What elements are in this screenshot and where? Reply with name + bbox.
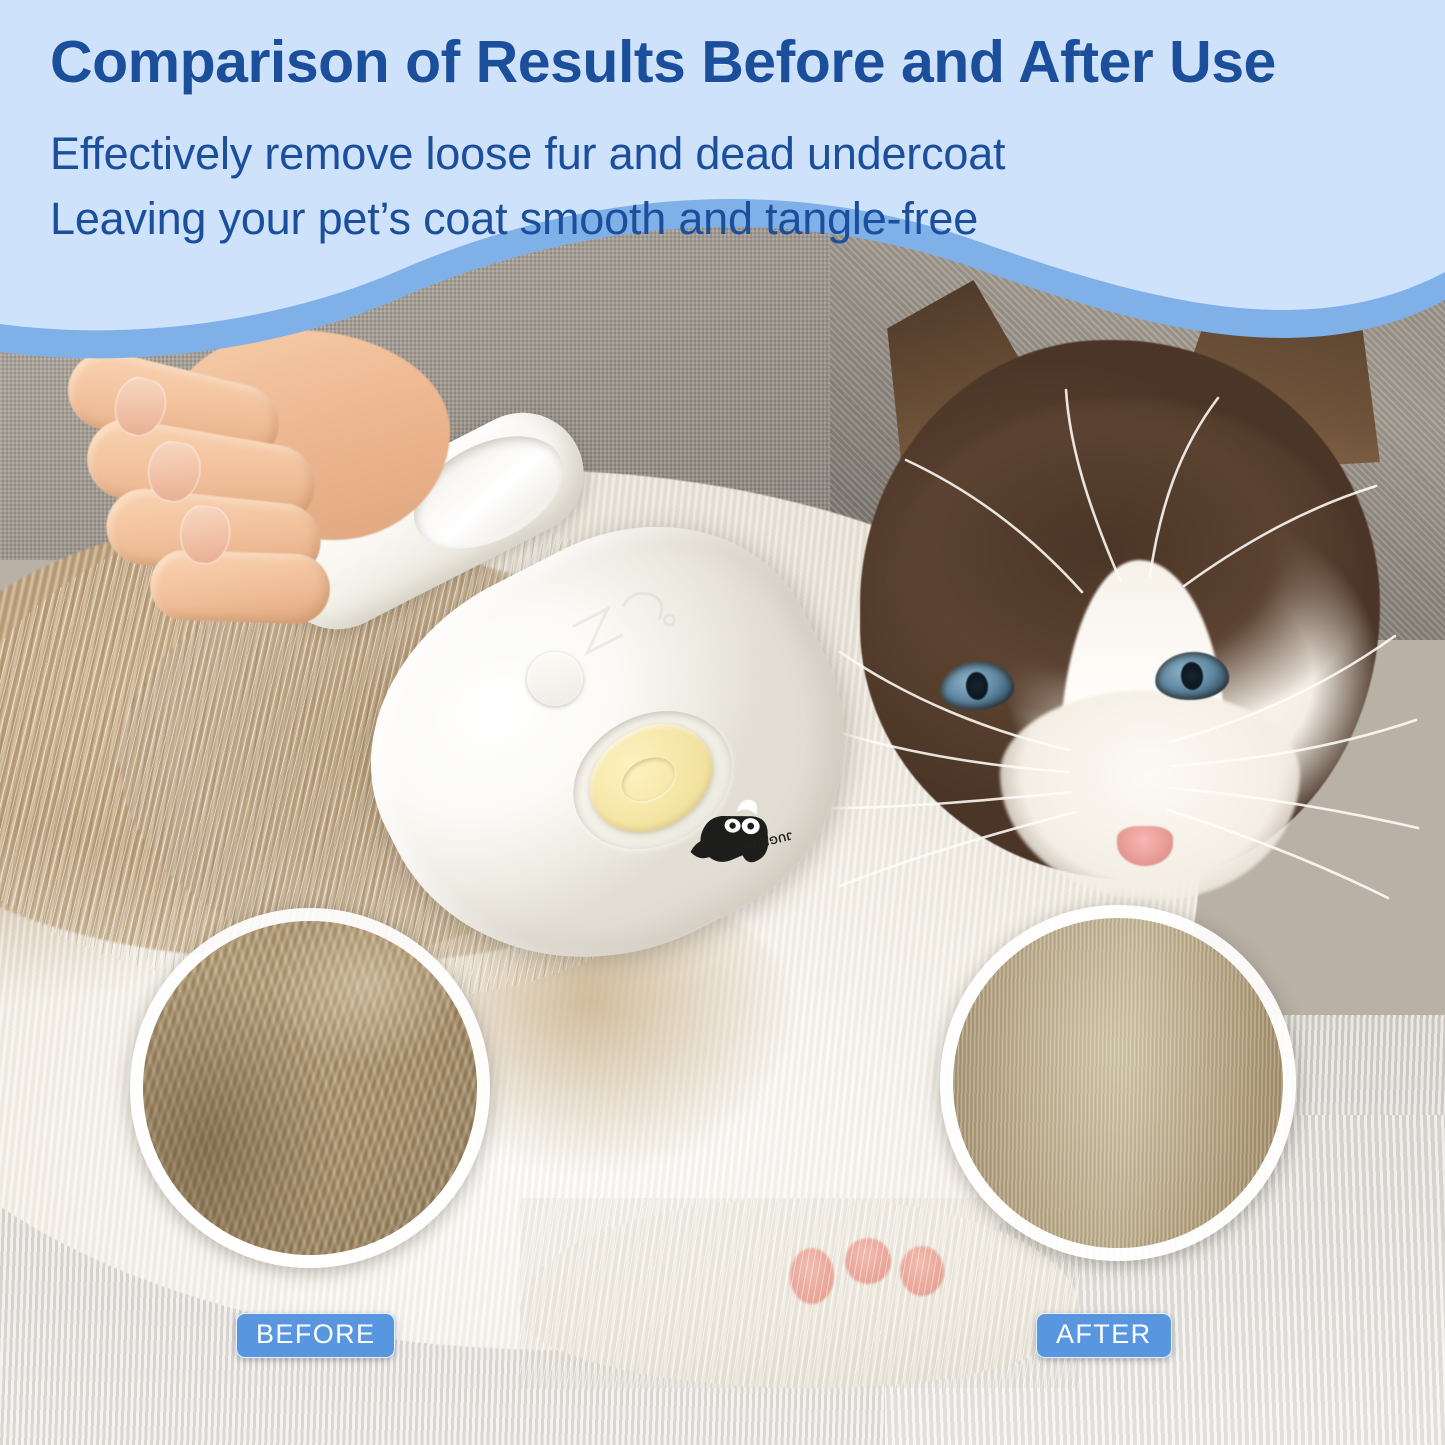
- device-brand-logo: JUGRUN: [675, 783, 795, 878]
- cat-toe-bean-1: [790, 1248, 834, 1304]
- before-zoom-circle: [130, 908, 490, 1268]
- before-fur-closeup: [143, 921, 477, 1255]
- cat-muzzle: [1000, 690, 1300, 900]
- device-mode-button: [527, 652, 583, 706]
- after-fur-closeup: [953, 918, 1283, 1248]
- device-logo-dog-icon: [675, 783, 795, 878]
- product-infographic: JUGRUN: [0, 0, 1445, 1445]
- after-badge: AFTER: [1036, 1313, 1172, 1358]
- cat-head: [820, 280, 1420, 900]
- hand-finger-4: [149, 549, 331, 625]
- cat-toe-bean-3: [900, 1246, 944, 1296]
- cat-toe-bean-2: [845, 1238, 891, 1284]
- before-badge: BEFORE: [236, 1313, 395, 1358]
- product-photo: JUGRUN: [0, 0, 1445, 1445]
- after-fur-texture: [940, 905, 1296, 1261]
- before-fur-texture: [130, 908, 490, 1268]
- after-zoom-circle: [940, 905, 1296, 1261]
- human-hand: [30, 320, 460, 650]
- cat-pupil-left: [965, 671, 989, 701]
- cat-pupil-right: [1180, 661, 1204, 690]
